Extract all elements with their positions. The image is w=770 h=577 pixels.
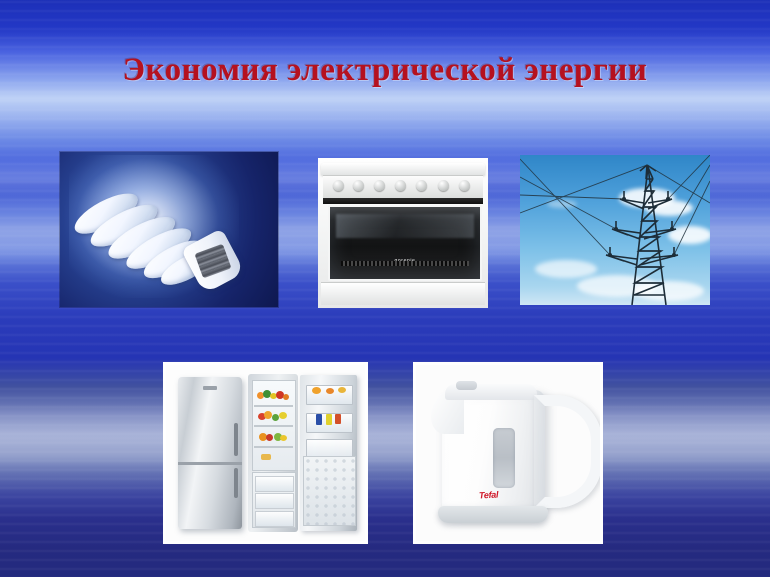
refrigerator-closed: [178, 377, 242, 528]
page-title: Экономия электрической энергии: [0, 52, 770, 89]
door-lower-panel: [303, 456, 356, 526]
kettle-brand-logo: Tefal: [478, 489, 498, 500]
freezer-drawer: [255, 476, 294, 492]
food-item: [283, 394, 289, 400]
kettle-water-level-window: [493, 428, 515, 488]
food-item: [280, 435, 287, 441]
presentation-slide: Экономия электрической энергии: [0, 0, 770, 577]
bottle-item: [326, 414, 332, 425]
oven-knob[interactable]: [395, 180, 406, 191]
fridge-handle-lower: [234, 468, 238, 498]
food-item: [261, 454, 271, 460]
freezer-drawer: [255, 493, 294, 509]
oven-knob[interactable]: [333, 180, 344, 191]
oven-glass-reflection: [336, 214, 474, 238]
food-item: [266, 434, 273, 441]
oven-vent-grille: [341, 261, 470, 266]
oven-door-glass[interactable]: gorenje: [328, 205, 482, 281]
food-item: [326, 388, 334, 394]
oven-knob[interactable]: [416, 180, 427, 191]
fridge-shelf: [254, 405, 293, 407]
oven-knob[interactable]: [374, 180, 385, 191]
oven-storage-drawer[interactable]: [321, 282, 484, 306]
fridge-compartment: [252, 380, 296, 471]
oven-cooktop: [321, 163, 484, 175]
fridge-shelf: [254, 425, 293, 427]
kettle-base: [438, 506, 548, 524]
photo-electric-oven[interactable]: gorenje: [318, 158, 488, 308]
food-item: [312, 387, 321, 394]
door-shelf: [306, 385, 354, 406]
photo-compact-fluorescent-lamp[interactable]: [60, 152, 278, 307]
fridge-cabinet: [248, 374, 298, 532]
bottle-item: [316, 414, 322, 425]
fridge-door-open: [300, 375, 357, 530]
freezer-compartment: [252, 472, 296, 528]
photo-power-transmission-tower[interactable]: [520, 155, 710, 305]
food-item: [338, 387, 346, 393]
oven-knob[interactable]: [353, 180, 364, 191]
fridge-door-split: [178, 462, 242, 465]
fridge-brand-badge: [203, 386, 217, 390]
oven-control-panel: [323, 175, 483, 200]
oven-knob[interactable]: [459, 180, 470, 191]
food-item: [272, 414, 279, 421]
oven-door-gap: [323, 198, 483, 204]
kettle-lid-button[interactable]: [456, 381, 476, 390]
refrigerator-open: [248, 374, 357, 532]
transmission-tower-icon: [520, 155, 710, 305]
freezer-drawer: [255, 511, 294, 527]
bottle-item: [335, 414, 341, 424]
photo-refrigerators[interactable]: [163, 362, 368, 544]
fridge-handle-upper: [234, 423, 238, 456]
food-item: [279, 412, 287, 419]
photo-electric-kettle[interactable]: Tefal: [413, 362, 603, 544]
door-shelf: [306, 413, 354, 434]
fridge-shelf: [254, 446, 293, 448]
oven-knob[interactable]: [438, 180, 449, 191]
